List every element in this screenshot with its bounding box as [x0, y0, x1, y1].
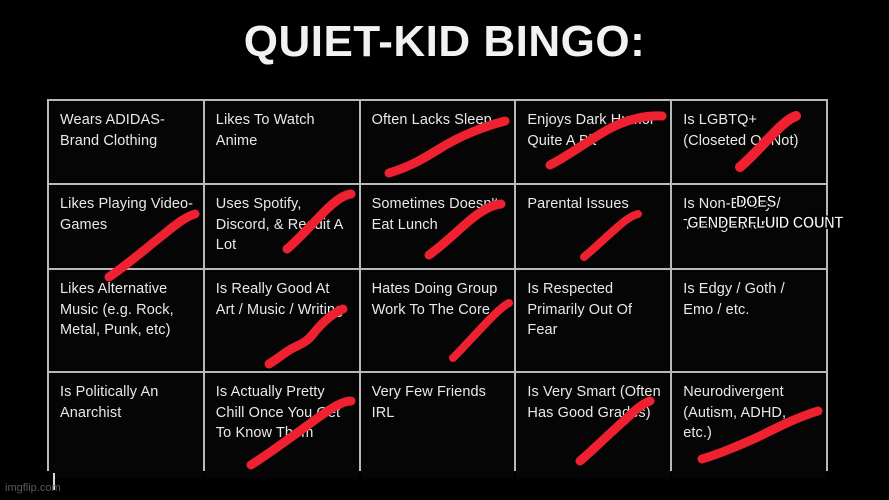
bingo-cell-label: Likes To Watch Anime	[216, 110, 350, 151]
bingo-cell[interactable]: Often Lacks Sleep	[361, 101, 515, 183]
meme-image: QUIET-KID BINGO: Wears ADIDAS-Brand Clot…	[0, 0, 889, 500]
bingo-cell[interactable]: Is Actually Pretty Chill Once You Get To…	[205, 373, 359, 479]
bingo-cell-label: Enjoys Dark Humor Quite A Bit	[527, 110, 661, 151]
bingo-cell[interactable]: Is Respected Primarily Out Of Fear	[516, 270, 670, 371]
caption-line-1: DOES	[687, 191, 825, 212]
bingo-cell[interactable]: Wears ADIDAS-Brand Clothing	[49, 101, 203, 183]
bingo-cell-label: Is Respected Primarily Out Of Fear	[527, 279, 661, 341]
bingo-cell[interactable]: Likes Alternative Music (e.g. Rock, Meta…	[49, 270, 203, 371]
bingo-cell-label: Parental Issues	[527, 194, 661, 215]
bingo-cell-label: Is Really Good At Art / Music / Writing	[216, 279, 350, 320]
red-marker-stroke	[578, 209, 644, 263]
bingo-cell[interactable]: Is LGBTQ+ (Closeted Or Not)	[672, 101, 826, 183]
bingo-cell-label: Likes Alternative Music (e.g. Rock, Meta…	[60, 279, 194, 341]
bingo-cell-label: Is Politically An Anarchist	[60, 382, 194, 423]
caption-line-2: GENDERFLUID COUNT	[687, 212, 825, 233]
bingo-cell[interactable]: Sometimes Doesn't Eat Lunch	[361, 185, 515, 268]
bingo-cell-label: Neurodivergent (Autism, ADHD, etc.)	[683, 382, 817, 444]
bingo-cell-label: Is Very Smart (Often Has Good Grades)	[527, 382, 661, 423]
bingo-cell[interactable]: Likes Playing Video-Games	[49, 185, 203, 268]
bingo-cell-label: Hates Doing Group Work To The Core	[372, 279, 506, 320]
bingo-cell-label: Uses Spotify, Discord, & Reddit A Lot	[216, 194, 350, 256]
bingo-cell[interactable]: Is Really Good At Art / Music / Writing	[205, 270, 359, 371]
bingo-cell[interactable]: Enjoys Dark Humor Quite A Bit	[516, 101, 670, 183]
bingo-cell-label: Likes Playing Video-Games	[60, 194, 194, 235]
bingo-cell-label: Very Few Friends IRL	[372, 382, 506, 423]
bingo-cell[interactable]: Likes To Watch Anime	[205, 101, 359, 183]
bingo-cell-label: Often Lacks Sleep	[372, 110, 506, 131]
bingo-cell[interactable]: Parental Issues	[516, 185, 670, 268]
bingo-cell[interactable]: Is Edgy / Goth / Emo / etc.	[672, 270, 826, 371]
bingo-cell[interactable]: Neurodivergent (Autism, ADHD, etc.)	[672, 373, 826, 479]
bingo-cell-label: Wears ADIDAS-Brand Clothing	[60, 110, 194, 151]
meme-title: QUIET-KID BINGO:	[0, 17, 889, 67]
bingo-cell[interactable]: Uses Spotify, Discord, & Reddit A Lot	[205, 185, 359, 268]
bingo-cell[interactable]: Is Very Smart (Often Has Good Grades)	[516, 373, 670, 479]
bingo-cell-label: Sometimes Doesn't Eat Lunch	[372, 194, 506, 235]
imgflip-watermark: imgflip.com	[5, 482, 61, 494]
bingo-cell-label: Is Actually Pretty Chill Once You Get To…	[216, 382, 350, 444]
bingo-cell[interactable]: Very Few Friends IRL	[361, 373, 515, 479]
bingo-cell[interactable]: Is Politically An Anarchist	[49, 373, 203, 479]
bingo-cell[interactable]: Hates Doing Group Work To The Core	[361, 270, 515, 371]
impact-caption: DOES GENDERFLUID COUNT	[687, 191, 825, 233]
bingo-grid: Wears ADIDAS-Brand Clothing Likes To Wat…	[47, 99, 828, 471]
bingo-cell-label: Is Edgy / Goth / Emo / etc.	[683, 279, 817, 320]
bingo-cell-label: Is LGBTQ+ (Closeted Or Not)	[683, 110, 817, 151]
